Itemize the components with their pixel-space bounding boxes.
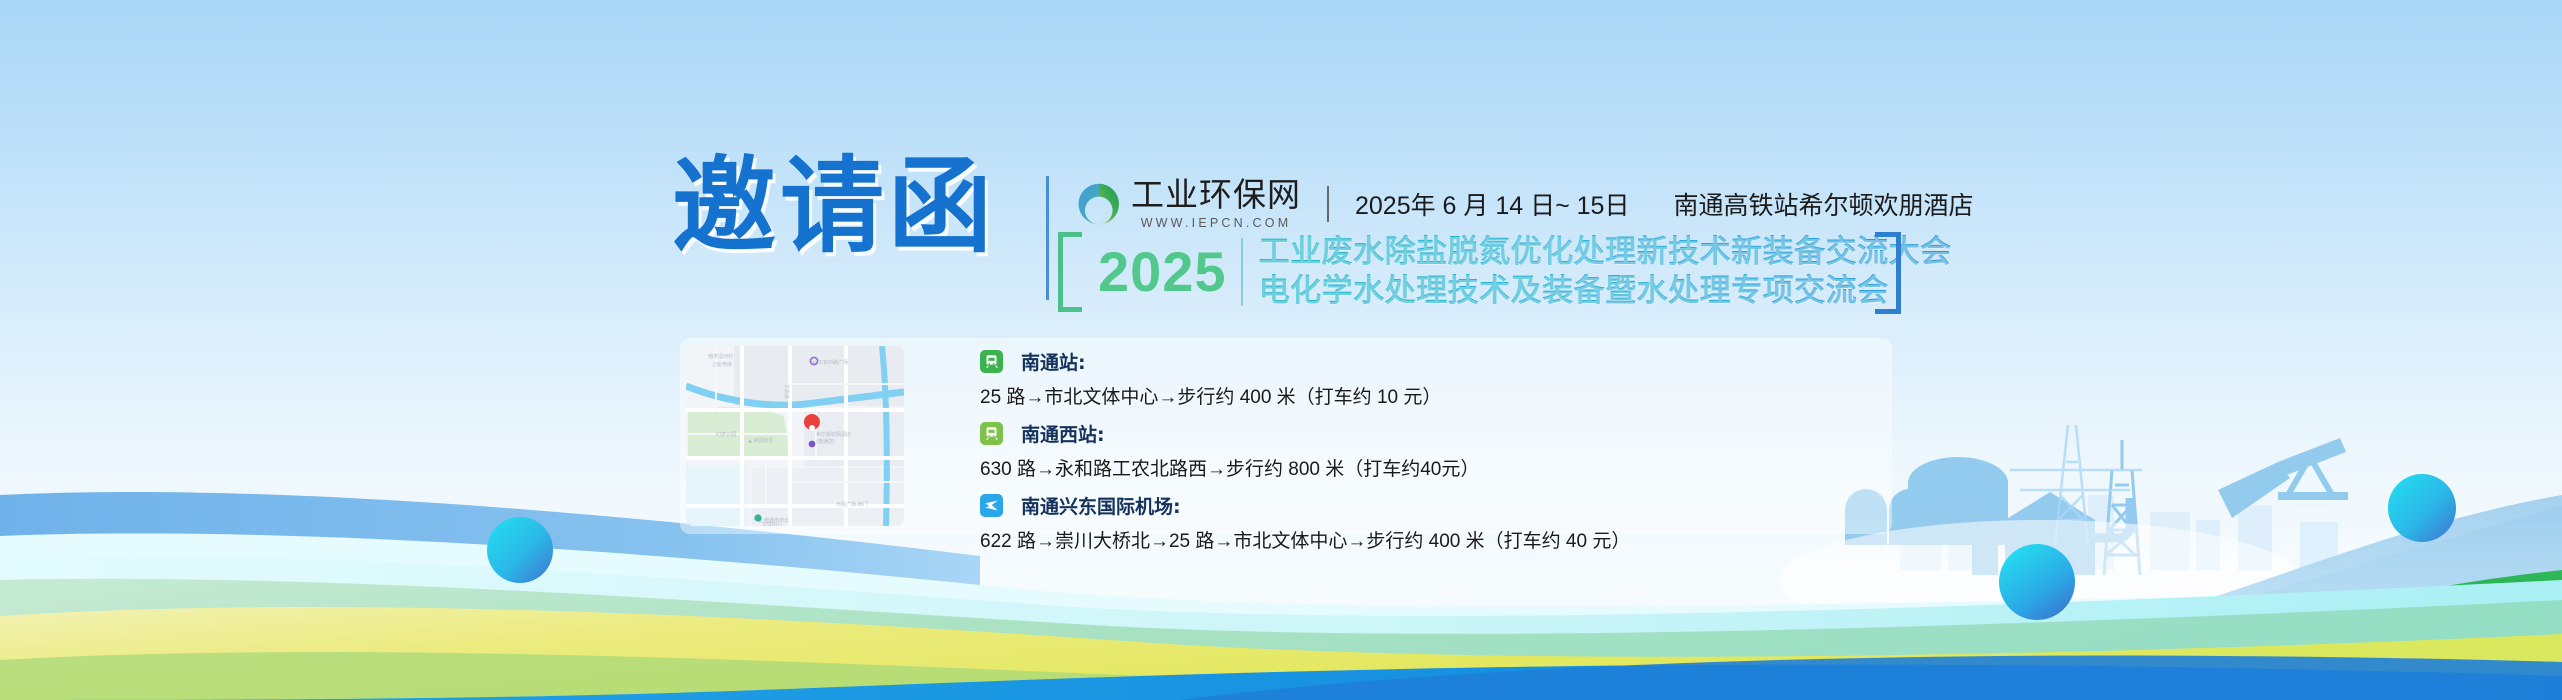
svg-text:幻梦公园: 幻梦公园 [716,431,736,438]
list-item: 南通兴东国际机场: 622 路→崇川大桥北→25 路→市北文体中心→步行约 40… [980,492,1630,553]
route-title: 南通站: [1021,348,1086,375]
svg-text:南市沿河村: 南市沿河村 [708,353,733,360]
plane-icon [980,494,1003,517]
route-detail: 630 路→永和路工农北路西→步行约 800 米（打车约40元） [980,454,1630,481]
train-icon [980,350,1003,373]
svg-text:▲ 锦园街区: ▲ 锦园街区 [748,437,773,444]
site-logo[interactable]: 工业环保网 WWW.IEPCN.COM [1076,178,1301,230]
conference-title-block: 2025 工业废水除盐脱氮优化处理新技术新装备交流大会 电化学水处理技术及装备暨… [1058,232,1952,312]
invitation-banner: 邀请函 工业环 [0,0,2562,700]
event-year: 2025 [1094,232,1241,312]
bracket-left-icon [1058,232,1082,312]
page-title: 邀请函 [672,152,996,261]
route-detail: 622 路→崇川大桥北→25 路→市北文体中心→步行约 400 米（打车约 40… [980,526,1630,553]
event-date: 2025年 6 月 14 日~ 15日 [1355,186,1629,222]
route-detail: 25 路→市北文体中心→步行约 400 米（打车约 10 元） [980,382,1630,409]
bracket-right-icon [1875,232,1901,314]
conference-divider [1241,238,1243,306]
route-title: 南通西站: [1021,420,1105,447]
header-separator [1327,186,1329,222]
logo-url: WWW.IEPCN.COM [1131,216,1301,230]
conference-line-2: 电化学水处理技术及装备暨水处理专项交流会 [1259,272,1952,311]
routes-list: 南通站: 25 路→市北文体中心→步行约 400 米（打车约 10 元） 南通西… [980,348,1630,564]
list-item: 南通西站: 630 路→永和路工农北路西→步行约 800 米（打车约40元） [980,420,1630,481]
svg-text:文体中心: 文体中心 [762,521,782,526]
route-title: 南通兴东国际机场: [1021,492,1181,519]
event-venue: 南通高铁站希尔顿欢朋酒店 [1673,186,1973,222]
header-row: 工业环保网 WWW.IEPCN.COM 2025年 6 月 14 日~ 15日 … [1076,178,1973,230]
logo-name: 工业环保网 [1131,178,1301,211]
train-icon [980,422,1003,445]
svg-text:希尔顿欢朋酒店: 希尔顿欢朋酒店 [816,431,851,438]
travel-info-panel: 南市沿河村 力星电房 幻梦公园 ▲ 锦园街区 ◎ 工农中路广场 希尔顿欢朋酒店 … [680,338,1892,534]
svg-text:(南通店): (南通店) [816,438,835,445]
ring-gradient-logo-icon [1076,181,1122,227]
map-thumbnail[interactable]: 南市沿河村 力星电房 幻梦公园 ▲ 锦园街区 ◎ 工农中路广场 希尔顿欢朋酒店 … [686,346,904,526]
conference-line-1: 工业废水除盐脱氮优化处理新技术新装备交流大会 [1259,233,1952,272]
svg-text:力星电房: 力星电房 [712,361,732,368]
svg-text:工农路: 工农路 [783,384,790,399]
title-divider [1046,176,1049,300]
svg-text:市民广场-西门: 市民广场-西门 [836,501,868,508]
list-item: 南通站: 25 路→市北文体中心→步行约 400 米（打车约 10 元） [980,348,1630,409]
